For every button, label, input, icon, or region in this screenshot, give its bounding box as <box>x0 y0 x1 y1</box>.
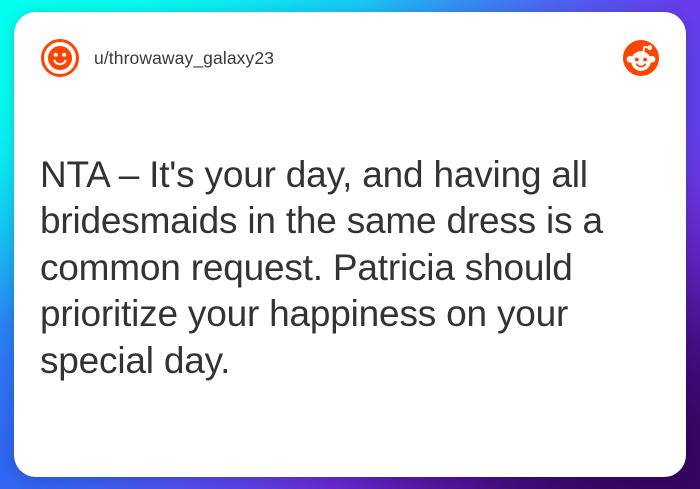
reddit-snoo-logo-icon[interactable] <box>622 39 660 77</box>
comment-text: NTA – It's your day, and having all brid… <box>40 152 650 384</box>
card-body: NTA – It's your day, and having all brid… <box>40 152 650 384</box>
card-header: u/throwaway_galaxy23 <box>14 12 686 104</box>
gradient-background: u/throwaway_galaxy23 NTA – It's your day… <box>0 0 700 489</box>
reddit-comment-card: u/throwaway_galaxy23 NTA – It's your day… <box>14 12 686 477</box>
username-label: u/throwaway_galaxy23 <box>94 48 274 69</box>
smiley-face-avatar-icon[interactable] <box>40 38 80 78</box>
